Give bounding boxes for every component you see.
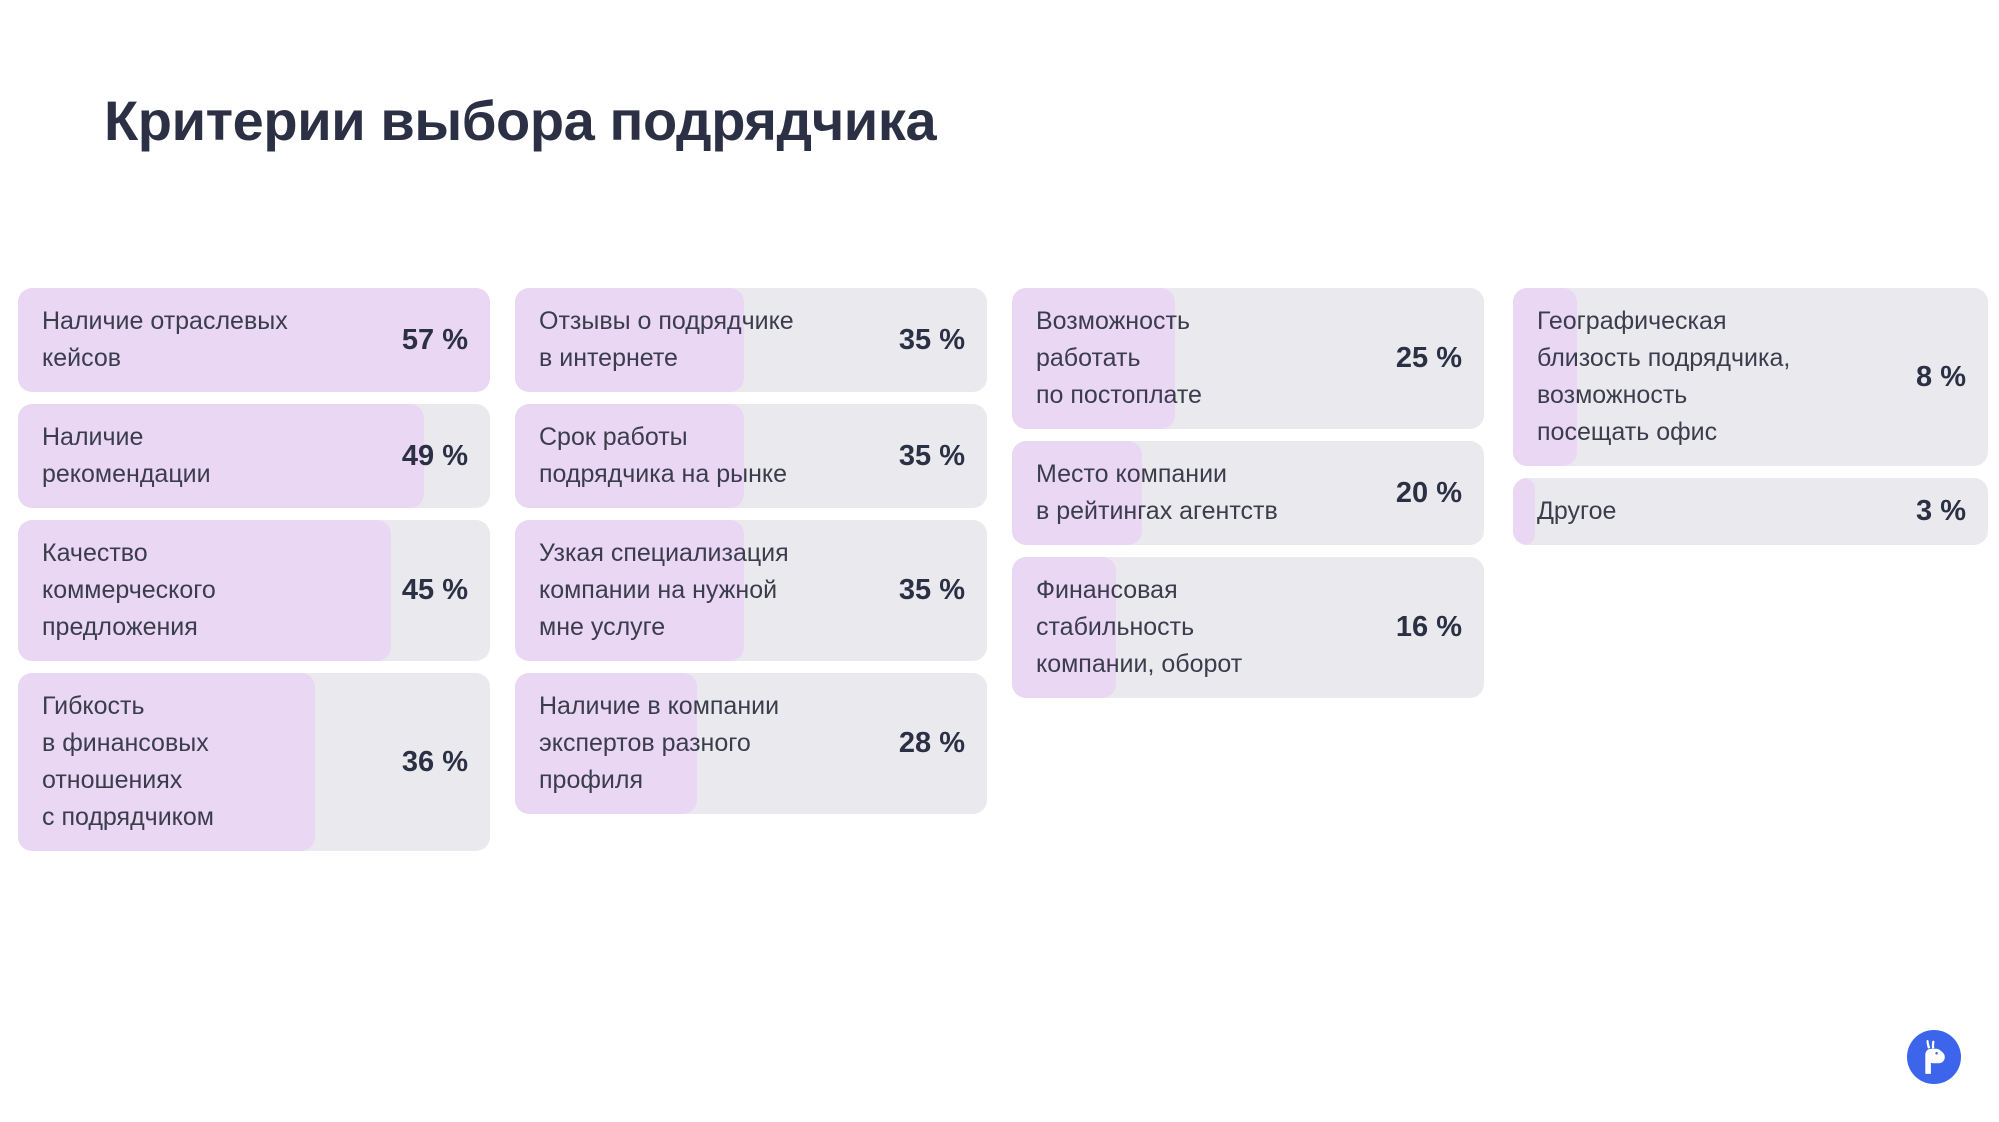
bar-track: Срок работы подрядчика на рынке35 % <box>515 404 987 508</box>
page-title: Критерии выбора подрядчика <box>104 88 936 153</box>
bar-content: Качество коммерческого предложения45 % <box>18 520 490 661</box>
chart-column-3: Возможность работать по постоплате25 %Ме… <box>1012 288 1484 710</box>
bar-track: Гибкость в финансовых отношениях с подря… <box>18 673 490 851</box>
bar-label: Наличие отраслевых кейсов <box>42 303 302 377</box>
bar-track: Наличие отраслевых кейсов57 % <box>18 288 490 392</box>
bar-label: Географическая близость подрядчика, возм… <box>1537 303 1804 451</box>
bar-content: Наличие рекомендации49 % <box>18 404 490 508</box>
bar-value: 45 % <box>402 574 468 607</box>
bar-label: Другое <box>1537 493 1630 530</box>
bar-value: 35 % <box>899 574 965 607</box>
bar-label: Узкая специализация компании на нужной м… <box>539 535 803 646</box>
bar-content: Узкая специализация компании на нужной м… <box>515 520 987 661</box>
bar-track: Возможность работать по постоплате25 % <box>1012 288 1484 429</box>
bar-content: Другое3 % <box>1513 478 1988 545</box>
slide-canvas: Критерии выбора подрядчика Наличие отрас… <box>0 0 1999 1122</box>
bar-track: Отзывы о подрядчике в интернете35 % <box>515 288 987 392</box>
bar-label: Возможность работать по постоплате <box>1036 303 1216 414</box>
bar-content: Отзывы о подрядчике в интернете35 % <box>515 288 987 392</box>
bar-value: 8 % <box>1916 361 1966 394</box>
bar-value: 3 % <box>1916 495 1966 528</box>
bar-content: Наличие в компании экспертов разного про… <box>515 673 987 814</box>
bar-value: 16 % <box>1396 611 1462 644</box>
llama-logo-icon <box>1907 1030 1961 1084</box>
bar-row: Узкая специализация компании на нужной м… <box>515 520 987 661</box>
bar-label: Финансовая стабильность компании, оборот <box>1036 572 1256 683</box>
bar-chart: Наличие отраслевых кейсов57 %Наличие рек… <box>18 288 1988 928</box>
chart-column-1: Наличие отраслевых кейсов57 %Наличие рек… <box>18 288 490 863</box>
bar-row: Наличие в компании экспертов разного про… <box>515 673 987 814</box>
bar-track: Узкая специализация компании на нужной м… <box>515 520 987 661</box>
bar-value: 57 % <box>402 324 468 357</box>
bar-row: Возможность работать по постоплате25 % <box>1012 288 1484 429</box>
bar-row: Наличие отраслевых кейсов57 % <box>18 288 490 392</box>
bar-label: Наличие в компании экспертов разного про… <box>539 688 793 799</box>
bar-row: Отзывы о подрядчике в интернете35 % <box>515 288 987 392</box>
bar-value: 35 % <box>899 440 965 473</box>
chart-column-4: Географическая близость подрядчика, возм… <box>1513 288 1988 557</box>
bar-value: 25 % <box>1396 342 1462 375</box>
bar-track: Качество коммерческого предложения45 % <box>18 520 490 661</box>
bar-content: Географическая близость подрядчика, возм… <box>1513 288 1988 466</box>
bar-row: Гибкость в финансовых отношениях с подря… <box>18 673 490 851</box>
bar-value: 36 % <box>402 746 468 779</box>
bar-row: Наличие рекомендации49 % <box>18 404 490 508</box>
bar-content: Финансовая стабильность компании, оборот… <box>1012 557 1484 698</box>
bar-row: Географическая близость подрядчика, возм… <box>1513 288 1988 466</box>
bar-row: Качество коммерческого предложения45 % <box>18 520 490 661</box>
bar-row: Финансовая стабильность компании, оборот… <box>1012 557 1484 698</box>
bar-label: Гибкость в финансовых отношениях с подря… <box>42 688 228 836</box>
bar-row: Место компании в рейтингах агентств20 % <box>1012 441 1484 545</box>
bar-content: Гибкость в финансовых отношениях с подря… <box>18 673 490 851</box>
bar-row: Другое3 % <box>1513 478 1988 545</box>
bar-label: Место компании в рейтингах агентств <box>1036 456 1292 530</box>
bar-track: Другое3 % <box>1513 478 1988 545</box>
bar-content: Возможность работать по постоплате25 % <box>1012 288 1484 429</box>
bar-label: Наличие рекомендации <box>42 419 225 493</box>
bar-value: 20 % <box>1396 477 1462 510</box>
bar-value: 28 % <box>899 727 965 760</box>
bar-track: Географическая близость подрядчика, возм… <box>1513 288 1988 466</box>
chart-column-2: Отзывы о подрядчике в интернете35 %Срок … <box>515 288 987 826</box>
bar-track: Место компании в рейтингах агентств20 % <box>1012 441 1484 545</box>
bar-row: Срок работы подрядчика на рынке35 % <box>515 404 987 508</box>
bar-track: Наличие в компании экспертов разного про… <box>515 673 987 814</box>
bar-value: 35 % <box>899 324 965 357</box>
bar-value: 49 % <box>402 440 468 473</box>
bar-label: Отзывы о подрядчике в интернете <box>539 303 808 377</box>
bar-label: Качество коммерческого предложения <box>42 535 230 646</box>
bar-content: Срок работы подрядчика на рынке35 % <box>515 404 987 508</box>
bar-label: Срок работы подрядчика на рынке <box>539 419 801 493</box>
bar-track: Финансовая стабильность компании, оборот… <box>1012 557 1484 698</box>
bar-content: Наличие отраслевых кейсов57 % <box>18 288 490 392</box>
bar-content: Место компании в рейтингах агентств20 % <box>1012 441 1484 545</box>
bar-track: Наличие рекомендации49 % <box>18 404 490 508</box>
